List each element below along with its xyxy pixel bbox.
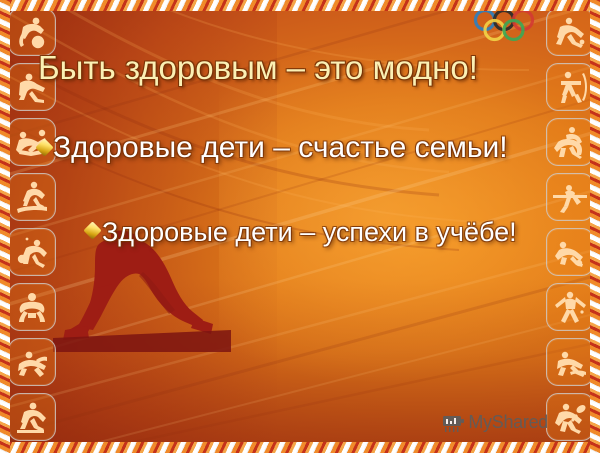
diamond-bullet-icon <box>38 141 51 154</box>
headline-text: Быть здоровым – это модно! <box>38 48 478 88</box>
headline-line: Быть здоровым – это модно! <box>38 48 568 88</box>
presentation-slide: Быть здоровым – это модно! Здоровые дети… <box>0 0 600 453</box>
bullet-line-1: Здоровые дети – счастье семьи! <box>38 129 568 167</box>
slide-text-content: Быть здоровым – это модно! Здоровые дети… <box>0 0 600 453</box>
bullet-line-2: Здоровые дети – успехи в учёбе! <box>86 214 522 250</box>
bullet-line-1-text: Здоровые дети – счастье семьи! <box>53 129 508 167</box>
bullet-line-2-text: Здоровые дети – успехи в учёбе! <box>102 214 517 250</box>
diamond-bullet-icon <box>86 224 99 237</box>
